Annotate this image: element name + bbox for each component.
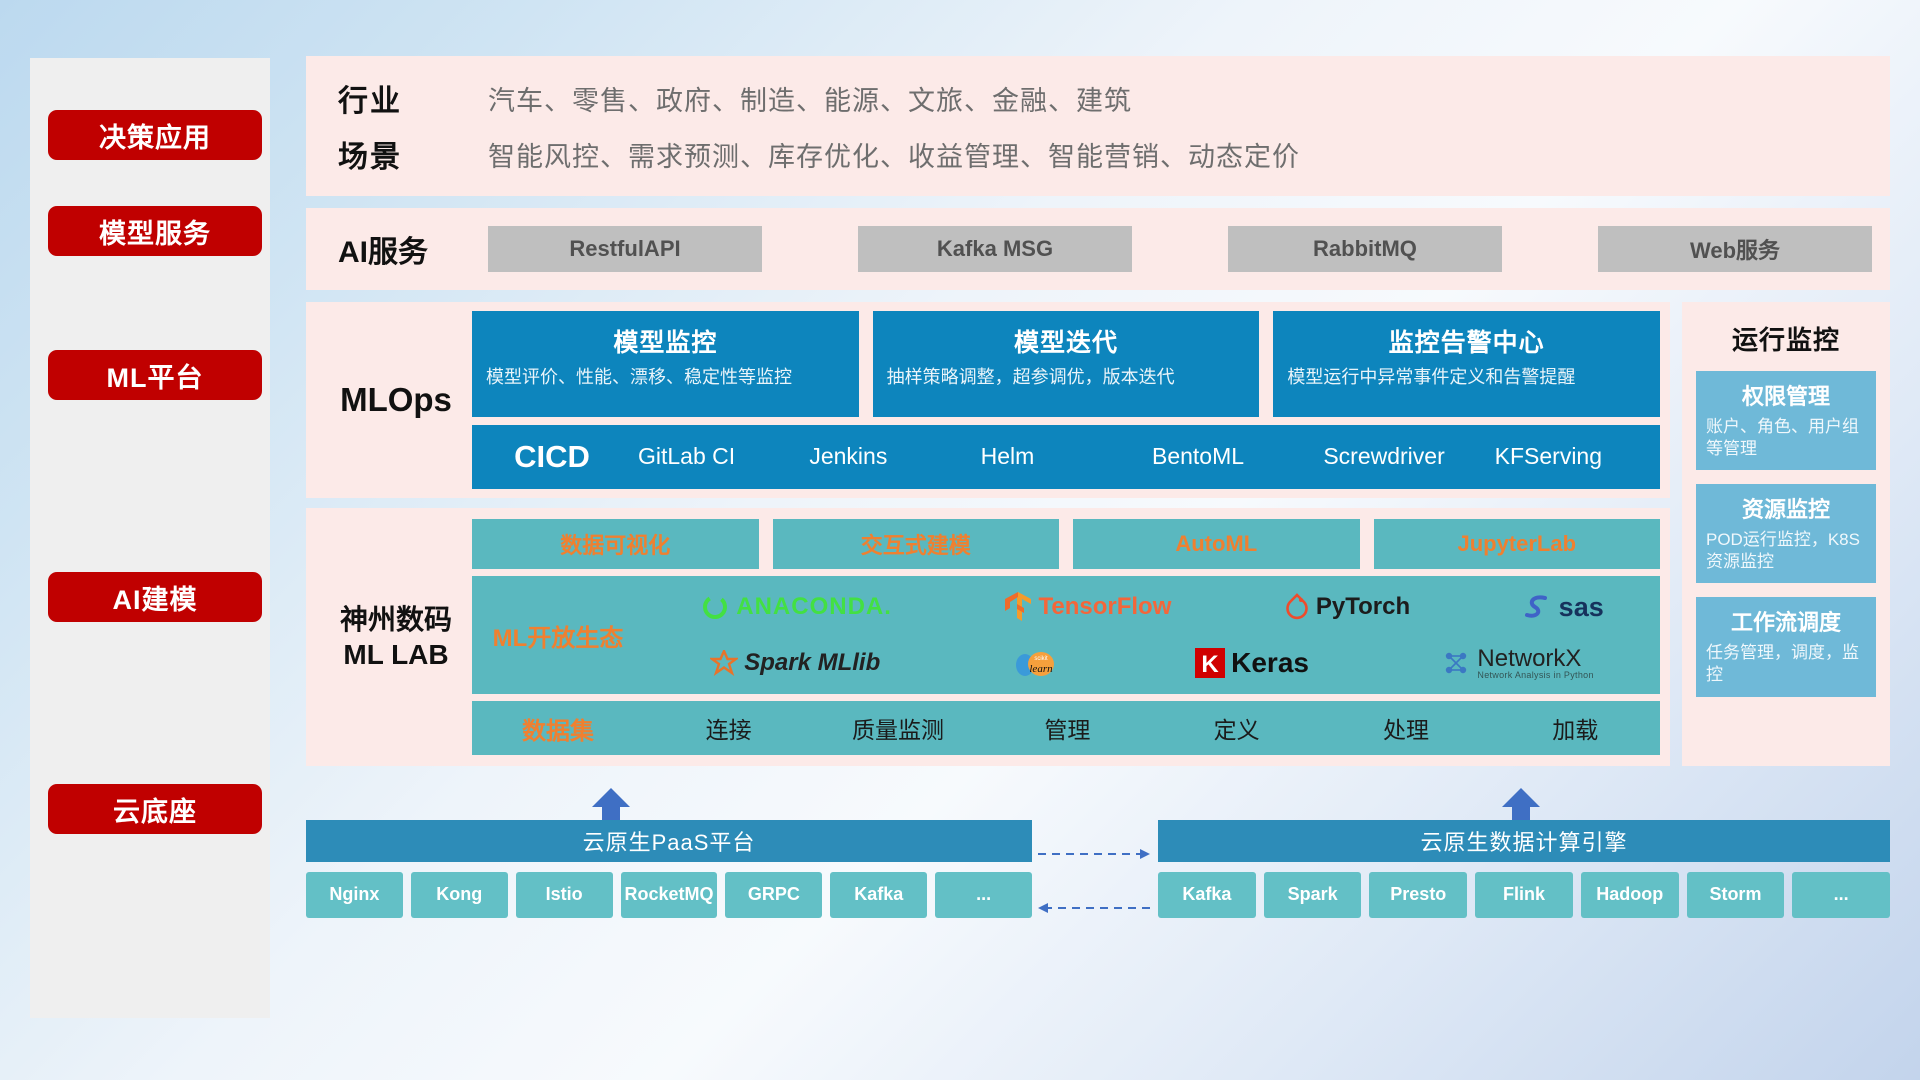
cicd-bar: CICD GitLab CI Jenkins Helm BentoML Scre… xyxy=(472,425,1660,489)
cicd-item-screwdriver[interactable]: Screwdriver xyxy=(1317,443,1488,470)
ml-open-ecosystem: ML开放生态 ANACONDA. xyxy=(472,576,1660,694)
ai-service-band: AI服务 RestfulAPI Kafka MSG RabbitMQ Web服务 xyxy=(306,208,1890,290)
cicd-item-bentoml[interactable]: BentoML xyxy=(1146,443,1317,470)
cloud-foundation: 云原生PaaS平台 Nginx Kong Istio RocketMQ GRPC… xyxy=(306,786,1890,946)
ml-lab-tool-interactive-modeling[interactable]: 交互式建模 xyxy=(773,519,1060,569)
keras-logo-text: Keras xyxy=(1231,647,1309,679)
industry-values: 汽车、零售、政府、制造、能源、文旅、金融、建筑 xyxy=(488,79,1132,118)
spark-mllib-logo: Spark MLlib xyxy=(710,649,880,677)
ecosystem-logo-row-2: Spark MLlib scikit learn scikit-learn xyxy=(644,637,1660,689)
cloud-data-engine-header: 云原生数据计算引擎 xyxy=(1158,820,1890,862)
monitor-card-title: 权限管理 xyxy=(1706,379,1866,411)
dataset-item-process[interactable]: 处理 xyxy=(1321,711,1490,745)
dataset-label: 数据集 xyxy=(472,711,644,746)
tensorflow-logo: TensorFlow xyxy=(1004,591,1171,623)
cloud-chip-spark[interactable]: Spark xyxy=(1264,872,1362,918)
svg-text:scikit: scikit xyxy=(1034,656,1048,662)
cloud-paas-group: 云原生PaaS平台 Nginx Kong Istio RocketMQ GRPC… xyxy=(306,820,1032,918)
decision-application-band: 行业 汽车、零售、政府、制造、能源、文旅、金融、建筑 场景 智能风控、需求预测、… xyxy=(306,56,1890,196)
anaconda-logo: ANACONDA. xyxy=(700,592,892,622)
ml-lab-tool-row: 数据可视化 交互式建模 AutoML JupyterLab xyxy=(472,519,1660,569)
ai-service-label: AI服务 xyxy=(338,227,488,271)
layer-chip-label: 模型服务 xyxy=(99,212,211,251)
scikit-learn-icon: scikit learn xyxy=(1013,649,1057,677)
spark-star-icon xyxy=(710,650,738,676)
dataset-item-connect[interactable]: 连接 xyxy=(644,711,813,745)
cloud-chip-kafka[interactable]: Kafka xyxy=(830,872,927,918)
mlops-card-alert-center[interactable]: 监控告警中心 模型运行中异常事件定义和告警提醒 xyxy=(1273,311,1660,417)
mlops-card-row: 模型监控 模型评价、性能、漂移、稳定性等监控 模型迭代 抽样策略调整，超参调优，… xyxy=(472,311,1660,417)
cloud-chip-kafka-engine[interactable]: Kafka xyxy=(1158,872,1256,918)
ml-lab-label-line1: 神州数码 xyxy=(320,602,472,637)
ml-lab-label-line2: ML LAB xyxy=(320,637,472,672)
anaconda-logo-text: ANACONDA. xyxy=(736,593,892,621)
cloud-chip-more[interactable]: ... xyxy=(935,872,1032,918)
cloud-chip-presto[interactable]: Presto xyxy=(1369,872,1467,918)
mlops-band: MLOps 模型监控 模型评价、性能、漂移、稳定性等监控 模型迭代 抽样策略调整… xyxy=(306,302,1670,498)
monitor-card-workflow[interactable]: 工作流调度 任务管理，调度，监控 xyxy=(1696,597,1876,696)
layer-rail: 决策应用 模型服务 ML平台 AI建模 云底座 xyxy=(30,58,270,1018)
svg-text:learn: learn xyxy=(1029,663,1053,675)
scenario-label: 场景 xyxy=(338,132,488,176)
monitor-card-desc: POD运行监控，K8S资源监控 xyxy=(1706,529,1866,573)
networkx-logo: NetworkX Network Analysis in Python xyxy=(1441,647,1593,680)
mlops-card-title: 模型迭代 xyxy=(887,323,1246,359)
dataset-item-define[interactable]: 定义 xyxy=(1152,711,1321,745)
mlops-card-title: 模型监控 xyxy=(486,323,845,359)
monitor-card-desc: 账户、角色、用户组等管理 xyxy=(1706,416,1866,460)
ecosystem-logo-row-1: ANACONDA. TensorFlow xyxy=(644,581,1660,633)
cloud-chip-kong[interactable]: Kong xyxy=(411,872,508,918)
scenario-row: 场景 智能风控、需求预测、库存优化、收益管理、智能营销、动态定价 xyxy=(338,126,1890,182)
ml-open-ecosystem-logos: ANACONDA. TensorFlow xyxy=(644,581,1660,689)
ml-lab-content: 数据可视化 交互式建模 AutoML JupyterLab ML开放生态 xyxy=(472,519,1670,755)
ai-service-item-kafka-msg[interactable]: Kafka MSG xyxy=(858,226,1132,272)
networkx-logo-subtitle: Network Analysis in Python xyxy=(1477,671,1593,680)
monitor-card-desc: 任务管理，调度，监控 xyxy=(1706,642,1866,686)
cicd-label: CICD xyxy=(472,439,632,475)
runtime-monitoring-panel: 运行监控 权限管理 账户、角色、用户组等管理 资源监控 POD运行监控，K8S资… xyxy=(1682,302,1890,766)
layer-chip-label: 决策应用 xyxy=(99,116,211,155)
spark-mllib-logo-text: Spark MLlib xyxy=(744,649,880,677)
cloud-paas-chip-list: Nginx Kong Istio RocketMQ GRPC Kafka ... xyxy=(306,872,1032,918)
ai-modeling-band: 神州数码 ML LAB 数据可视化 交互式建模 AutoML JupyterLa… xyxy=(306,508,1670,766)
cloud-data-engine-group: 云原生数据计算引擎 Kafka Spark Presto Flink Hadoo… xyxy=(1158,820,1890,918)
layer-chip-ml-platform[interactable]: ML平台 xyxy=(48,350,262,400)
layer-chip-label: 云底座 xyxy=(113,790,197,829)
cloud-chip-hadoop[interactable]: Hadoop xyxy=(1581,872,1679,918)
cloud-chip-more-right[interactable]: ... xyxy=(1792,872,1890,918)
cloud-chip-rocketmq[interactable]: RocketMQ xyxy=(621,872,718,918)
runtime-monitoring-title: 运行监控 xyxy=(1696,320,1876,357)
monitor-card-permission[interactable]: 权限管理 账户、角色、用户组等管理 xyxy=(1696,371,1876,470)
mlops-content: 模型监控 模型评价、性能、漂移、稳定性等监控 模型迭代 抽样策略调整，超参调优，… xyxy=(472,311,1670,489)
anaconda-icon xyxy=(700,592,730,622)
pytorch-logo: PyTorch xyxy=(1284,592,1410,622)
mlops-label: MLOps xyxy=(320,381,472,419)
cloud-chip-grpc[interactable]: GRPC xyxy=(725,872,822,918)
dataset-item-manage[interactable]: 管理 xyxy=(983,711,1152,745)
ml-lab-tool-jupyterlab[interactable]: JupyterLab xyxy=(1374,519,1661,569)
dataset-item-quality[interactable]: 质量监测 xyxy=(813,711,982,745)
mlops-card-model-monitoring[interactable]: 模型监控 模型评价、性能、漂移、稳定性等监控 xyxy=(472,311,859,417)
layer-chip-model-service[interactable]: 模型服务 xyxy=(48,206,262,256)
ai-service-item-restfulapi[interactable]: RestfulAPI xyxy=(488,226,762,272)
cloud-chip-nginx[interactable]: Nginx xyxy=(306,872,403,918)
networkx-icon xyxy=(1441,648,1471,678)
ai-service-item-rabbitmq[interactable]: RabbitMQ xyxy=(1228,226,1502,272)
keras-logo: K Keras xyxy=(1195,647,1309,679)
cloud-data-engine-chip-list: Kafka Spark Presto Flink Hadoop Storm ..… xyxy=(1158,872,1890,918)
ml-open-ecosystem-label: ML开放生态 xyxy=(472,618,644,653)
dataset-item-list: 连接 质量监测 管理 定义 处理 加载 xyxy=(644,711,1660,745)
monitor-card-title: 工作流调度 xyxy=(1706,605,1866,637)
cicd-item-list: GitLab CI Jenkins Helm BentoML Screwdriv… xyxy=(632,443,1660,470)
monitor-card-title: 资源监控 xyxy=(1706,492,1866,524)
cicd-item-kfserving[interactable]: KFServing xyxy=(1489,443,1660,470)
layer-chip-decision-app[interactable]: 决策应用 xyxy=(48,110,262,160)
architecture-diagram: 决策应用 模型服务 ML平台 AI建模 云底座 行业 汽车、零售、政府、制造、能… xyxy=(0,0,1920,1080)
mlops-card-title: 监控告警中心 xyxy=(1287,323,1646,359)
tensorflow-logo-text: TensorFlow xyxy=(1038,593,1171,621)
sas-logo: sas xyxy=(1523,592,1604,623)
industry-label: 行业 xyxy=(338,76,488,120)
mlops-card-desc: 模型运行中异常事件定义和告警提醒 xyxy=(1287,366,1646,389)
cloud-chip-istio[interactable]: Istio xyxy=(516,872,613,918)
ml-lab-tool-automl[interactable]: AutoML xyxy=(1073,519,1360,569)
scenario-values: 智能风控、需求预测、库存优化、收益管理、智能营销、动态定价 xyxy=(488,135,1300,174)
cloud-chip-storm[interactable]: Storm xyxy=(1687,872,1785,918)
networkx-logo-text: NetworkX xyxy=(1477,647,1593,671)
cicd-item-jenkins[interactable]: Jenkins xyxy=(803,443,974,470)
layer-chip-ai-modeling[interactable]: AI建模 xyxy=(48,572,262,622)
keras-icon: K xyxy=(1195,648,1225,678)
pytorch-icon xyxy=(1284,592,1310,622)
ai-service-items: RestfulAPI Kafka MSG RabbitMQ Web服务 xyxy=(488,226,1890,272)
cicd-item-gitlab-ci[interactable]: GitLab CI xyxy=(632,443,803,470)
cloud-paas-header: 云原生PaaS平台 xyxy=(306,820,1032,862)
bidirectional-link xyxy=(1032,838,1158,928)
ml-lab-tool-data-visualization[interactable]: 数据可视化 xyxy=(472,519,759,569)
sas-icon xyxy=(1523,593,1553,621)
ai-service-item-web-service[interactable]: Web服务 xyxy=(1598,226,1872,272)
industry-row: 行业 汽车、零售、政府、制造、能源、文旅、金融、建筑 xyxy=(338,70,1890,126)
monitor-card-resource[interactable]: 资源监控 POD运行监控，K8S资源监控 xyxy=(1696,484,1876,583)
layer-chip-label: ML平台 xyxy=(107,356,204,395)
dataset-item-load[interactable]: 加载 xyxy=(1491,711,1660,745)
pytorch-logo-text: PyTorch xyxy=(1316,593,1410,621)
layer-chip-cloud-base[interactable]: 云底座 xyxy=(48,784,262,834)
layer-chip-label: AI建模 xyxy=(113,578,198,617)
ml-lab-label: 神州数码 ML LAB xyxy=(320,602,472,673)
mlops-card-model-iteration[interactable]: 模型迭代 抽样策略调整，超参调优，版本迭代 xyxy=(873,311,1260,417)
cloud-chip-flink[interactable]: Flink xyxy=(1475,872,1573,918)
mlops-card-desc: 模型评价、性能、漂移、稳定性等监控 xyxy=(486,366,845,389)
tensorflow-icon xyxy=(1004,591,1032,623)
mlops-card-desc: 抽样策略调整，超参调优，版本迭代 xyxy=(887,366,1246,389)
cicd-item-helm[interactable]: Helm xyxy=(975,443,1146,470)
scikit-learn-logo: scikit learn scikit-learn xyxy=(1013,635,1063,691)
dataset-bar: 数据集 连接 质量监测 管理 定义 处理 加载 xyxy=(472,701,1660,755)
sas-logo-text: sas xyxy=(1559,592,1604,623)
svg-text:K: K xyxy=(1201,651,1219,678)
